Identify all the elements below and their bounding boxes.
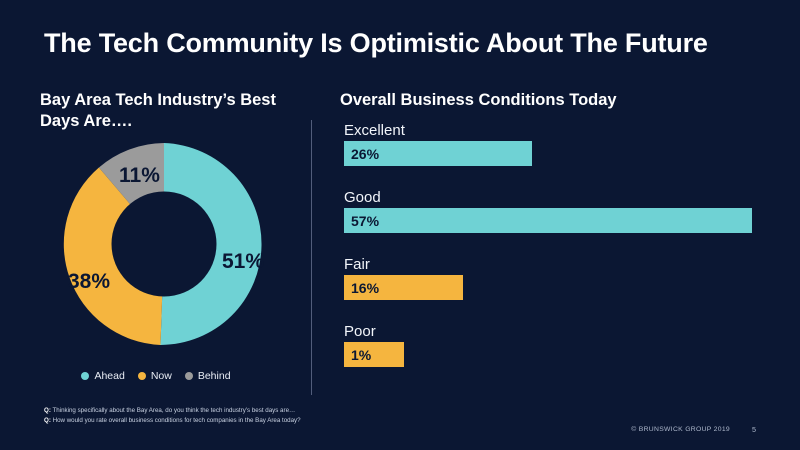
donut-chart: 51% 38% 11%	[62, 142, 266, 346]
bar-track-poor: 1%	[344, 342, 404, 367]
donut-label-ahead: 51%	[222, 250, 264, 274]
footnote-2-text: How would you rate overall business cond…	[53, 417, 301, 424]
bar-value-poor: 1%	[344, 347, 371, 363]
legend-swatch-icon-ahead	[81, 372, 89, 380]
donut-legend: Ahead Now Behind	[0, 370, 312, 382]
panel-divider	[311, 120, 312, 395]
bar-value-fair: 16%	[344, 280, 379, 296]
bar-fill-good[interactable]: 57%	[344, 208, 752, 233]
bar-track-good: 57%	[344, 208, 752, 233]
footnotes: Q: Thinking specifically about the Bay A…	[44, 406, 464, 426]
bar-track-fair: 16%	[344, 275, 463, 300]
slide-title: The Tech Community Is Optimistic About T…	[44, 28, 708, 59]
footnote-1: Q: Thinking specifically about the Bay A…	[44, 406, 464, 416]
donut-chart-panel: Bay Area Tech Industry’s Best Days Are….…	[0, 80, 312, 400]
bar-category-poor: Poor	[344, 323, 404, 340]
bar-group-poor: Poor 1%	[344, 323, 404, 367]
bar-fill-poor[interactable]: 1%	[344, 342, 404, 367]
legend-item-now[interactable]: Now	[138, 370, 172, 382]
legend-swatch-icon-now	[138, 372, 146, 380]
bar-fill-excellent[interactable]: 26%	[344, 141, 532, 166]
bar-category-excellent: Excellent	[344, 122, 532, 139]
donut-label-now: 38%	[68, 270, 110, 294]
bar-value-excellent: 26%	[344, 146, 379, 162]
donut-hole	[112, 192, 217, 297]
bar-group-excellent: Excellent 26%	[344, 122, 532, 166]
footnote-2-prefix: Q:	[44, 417, 51, 424]
bar-category-good: Good	[344, 189, 752, 206]
legend-label-now: Now	[151, 370, 172, 382]
bar-group-fair: Fair 16%	[344, 256, 463, 300]
legend-label-ahead: Ahead	[94, 370, 124, 382]
bar-chart-panel: Overall Business Conditions Today Excell…	[338, 80, 788, 400]
legend-item-ahead[interactable]: Ahead	[81, 370, 124, 382]
donut-chart-heading: Bay Area Tech Industry’s Best Days Are….	[40, 90, 310, 132]
bar-group-good: Good 57%	[344, 189, 752, 233]
legend-swatch-icon-behind	[185, 372, 193, 380]
footnote-2: Q: How would you rate overall business c…	[44, 416, 464, 426]
legend-label-behind: Behind	[198, 370, 231, 382]
bar-value-good: 57%	[344, 213, 379, 229]
bar-fill-fair[interactable]: 16%	[344, 275, 463, 300]
legend-item-behind[interactable]: Behind	[185, 370, 231, 382]
donut-label-behind: 11%	[119, 164, 160, 188]
slide-credit: © BRUNSWICK GROUP 2019 5	[631, 425, 756, 434]
slide: The Tech Community Is Optimistic About T…	[0, 0, 800, 450]
bar-track-excellent: 26%	[344, 141, 532, 166]
bar-chart-heading: Overall Business Conditions Today	[340, 90, 640, 111]
copyright-text: © BRUNSWICK GROUP 2019	[631, 426, 730, 433]
footnote-1-text: Thinking specifically about the Bay Area…	[52, 407, 295, 414]
bar-category-fair: Fair	[344, 256, 463, 273]
page-number: 5	[752, 425, 756, 434]
footnote-1-prefix: Q:	[44, 407, 51, 414]
